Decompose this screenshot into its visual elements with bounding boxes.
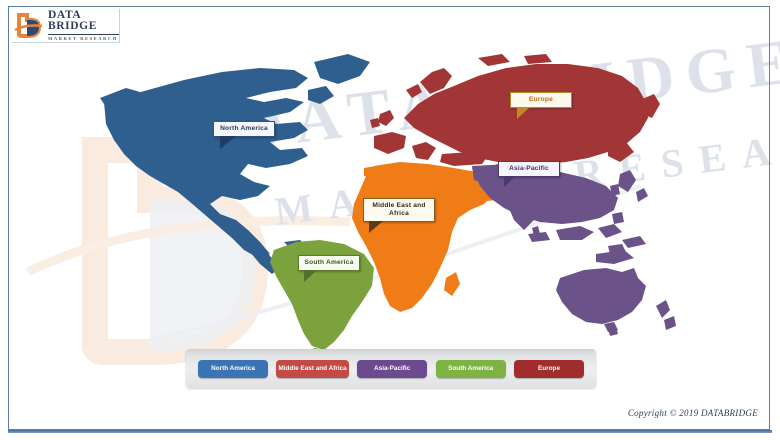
callout-pointer	[517, 107, 530, 119]
slide-frame-bottom-bar	[8, 430, 772, 433]
callout-pointer	[220, 136, 236, 149]
callout-pointer	[504, 176, 516, 187]
callout-label: Asia-Pacific	[509, 165, 549, 172]
legend-item-europe[interactable]: Europe	[514, 360, 584, 378]
callout-label: South America	[305, 259, 354, 266]
brand-subtitle: MARKET RESEARCH	[48, 37, 119, 42]
legend-item-middle-east-and-africa[interactable]: Middle East and Africa	[276, 360, 348, 378]
legend-item-label: North America	[211, 365, 255, 372]
legend-item-asia-pacific[interactable]: Asia-Pacific	[357, 360, 427, 378]
map-region-asia-pacific[interactable]	[472, 164, 676, 336]
data-bridge-b-logo-icon	[14, 12, 44, 40]
legend-item-label: South America	[448, 365, 493, 372]
legend-item-north-america[interactable]: North America	[198, 360, 268, 378]
brand-text: DATA BRIDGE MARKET RESEARCH	[48, 10, 119, 42]
legend-item-south-america[interactable]: South America	[436, 360, 506, 378]
callout-label-line1: Middle East and	[372, 202, 425, 209]
brand-title: DATA BRIDGE	[48, 10, 119, 35]
callout-label: North America	[220, 125, 268, 132]
callout-asia-pacific[interactable]: Asia-Pacific	[498, 161, 560, 177]
callout-middle-east-and-africa[interactable]: Middle East and Africa	[363, 198, 435, 222]
callout-label-line2: Africa	[389, 210, 409, 217]
callout-north-america[interactable]: North America	[213, 121, 275, 137]
callout-pointer	[304, 270, 317, 282]
legend-item-label: Asia-Pacific	[374, 365, 410, 372]
callout-south-america[interactable]: South America	[298, 255, 360, 271]
map-region-north-america[interactable]	[100, 54, 370, 274]
legend-item-label: Middle East and Africa	[278, 365, 346, 372]
slide-canvas: DATA BRIDGE MARKET RESEARCH	[0, 0, 780, 440]
callout-pointer	[369, 221, 383, 233]
callout-label: Europe	[529, 96, 553, 103]
legend-item-label: Europe	[538, 365, 560, 372]
copyright-notice: Copyright © 2019 DATABRIDGE	[628, 408, 758, 418]
region-legend: North America Middle East and Africa Asi…	[186, 349, 596, 388]
map-region-europe[interactable]	[370, 54, 660, 166]
callout-europe[interactable]: Europe	[510, 92, 572, 108]
brand-logo[interactable]: DATA BRIDGE MARKET RESEARCH	[12, 9, 120, 43]
